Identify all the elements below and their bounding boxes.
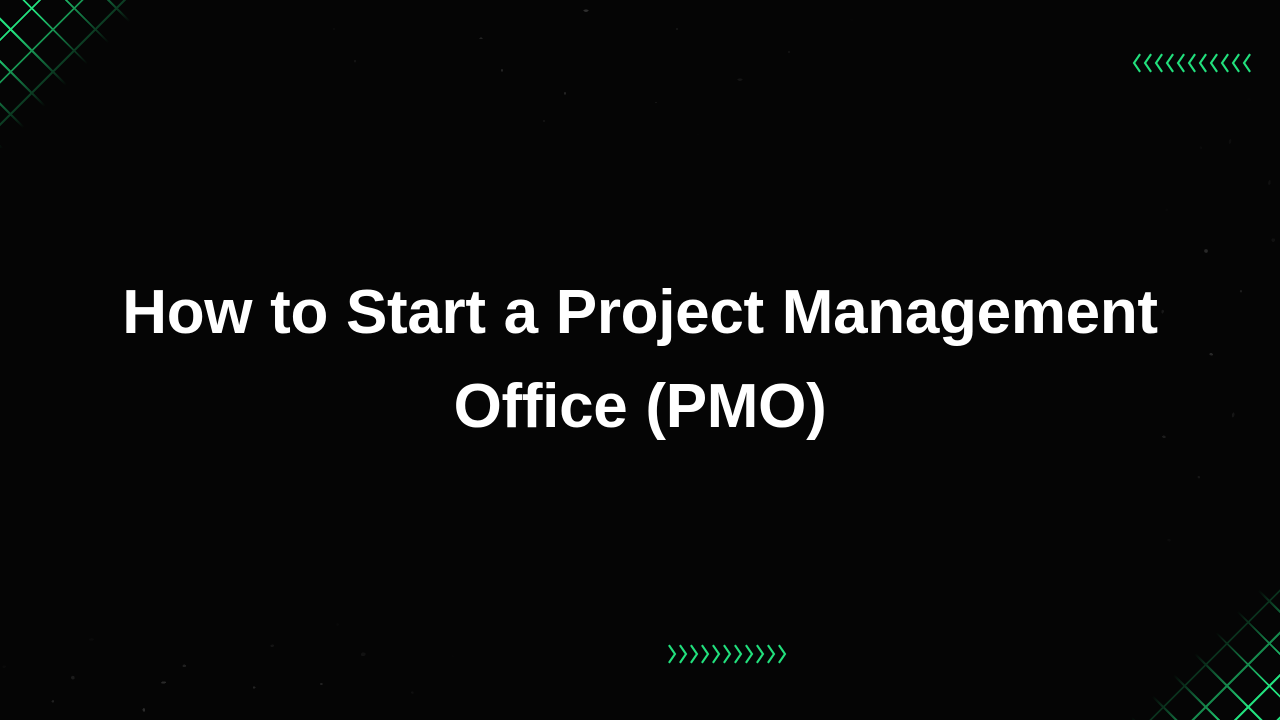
page-title: How to Start a Project Management Office… [50, 266, 1230, 454]
slide-canvas: How to Start a Project Management Office… [0, 0, 1280, 720]
title-block: How to Start a Project Management Office… [0, 0, 1280, 720]
